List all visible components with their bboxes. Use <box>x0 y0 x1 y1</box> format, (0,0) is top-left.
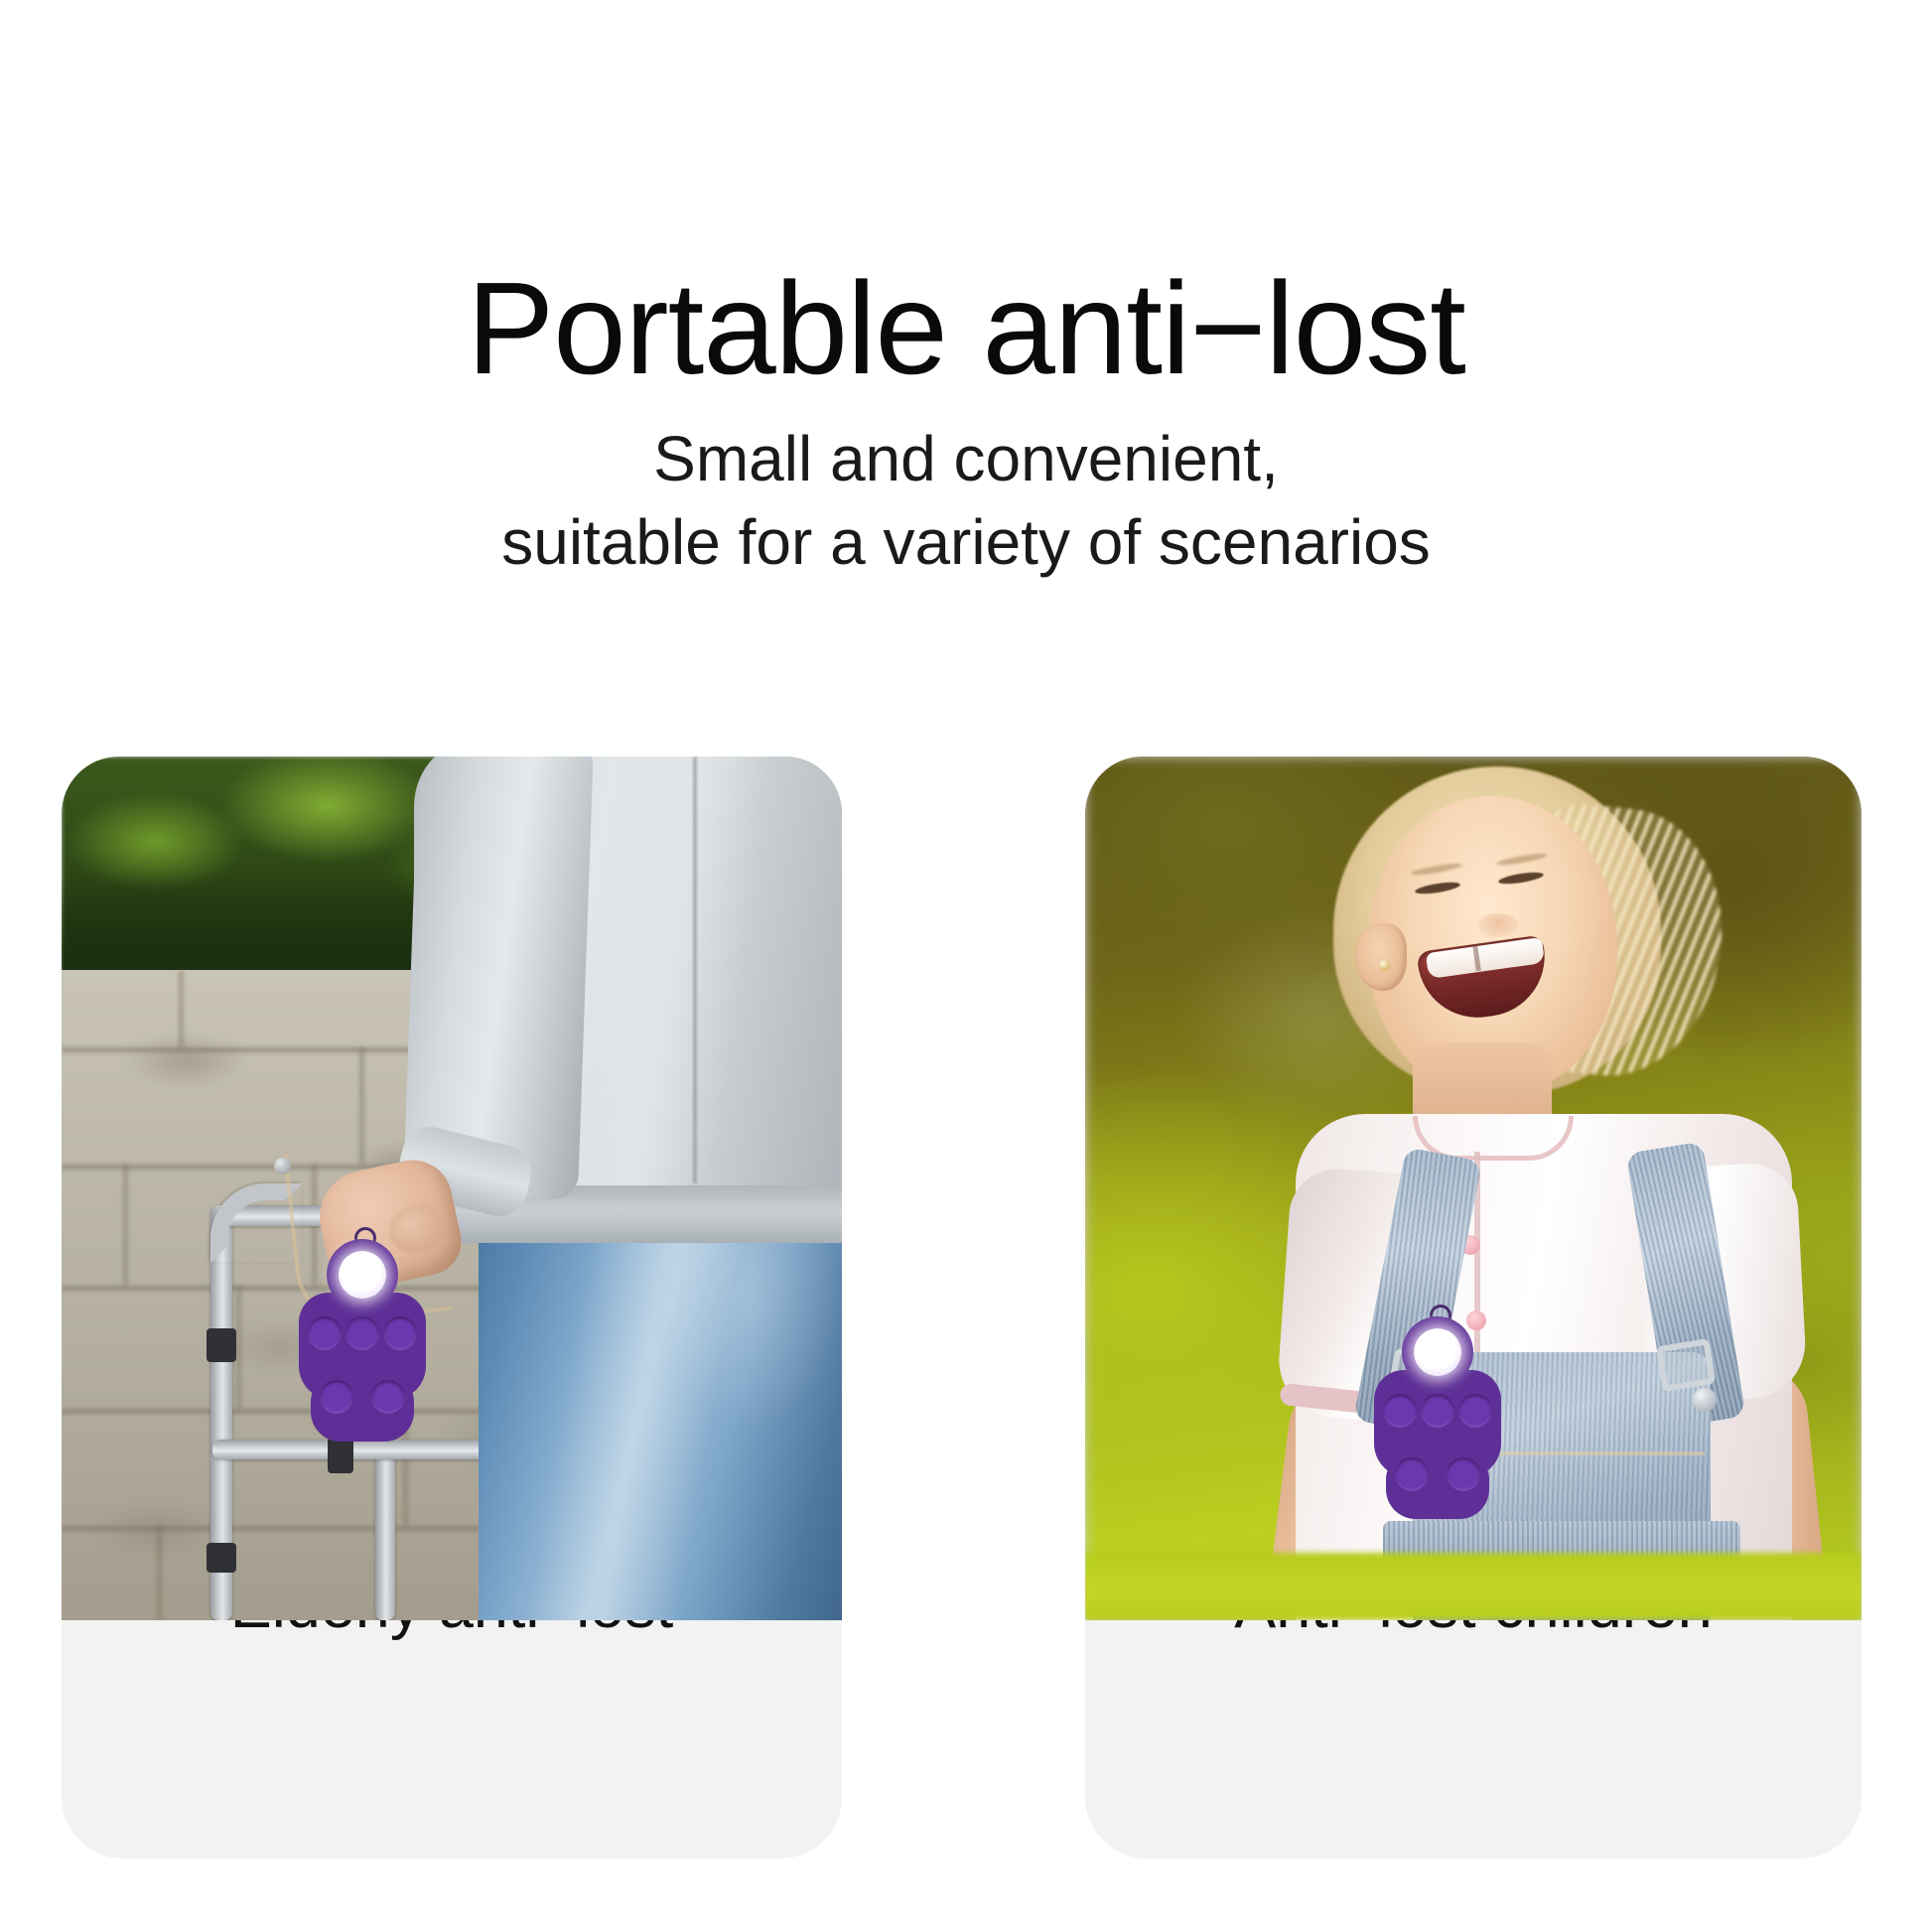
overall-buckle-right <box>1656 1338 1717 1392</box>
anti-lost-keychain-elderly <box>288 1227 437 1455</box>
photo-children <box>1085 757 1862 1620</box>
subtitle-line-2: suitable for a variety of scenarios <box>0 500 1932 584</box>
keychain-led-icon <box>339 1251 386 1299</box>
scenario-card-grid: Elderly anti−lost <box>0 757 1932 1868</box>
child-earring <box>1379 960 1390 971</box>
photo-elderly <box>62 757 842 1620</box>
product-feature-page: Portable anti−lost Small and convenient,… <box>0 0 1932 1932</box>
subtitle-line-1: Small and convenient, <box>0 417 1932 500</box>
child-ear <box>1355 923 1407 991</box>
sweatshirt-seam <box>693 757 697 1183</box>
page-title: Portable anti−lost <box>0 258 1932 400</box>
child-nose <box>1478 913 1518 937</box>
grass-foreground <box>1085 1553 1862 1620</box>
overall-metal-button <box>1693 1388 1717 1412</box>
anti-lost-keychain-child <box>1363 1305 1512 1533</box>
scenario-card-children[interactable]: Anti−lost children <box>1085 757 1862 1859</box>
jeans-rivet <box>274 1158 291 1174</box>
scenario-card-elderly[interactable]: Elderly anti−lost <box>62 757 842 1859</box>
keychain-led-icon <box>1414 1328 1461 1376</box>
page-subtitle: Small and convenient, suitable for a var… <box>0 417 1932 585</box>
